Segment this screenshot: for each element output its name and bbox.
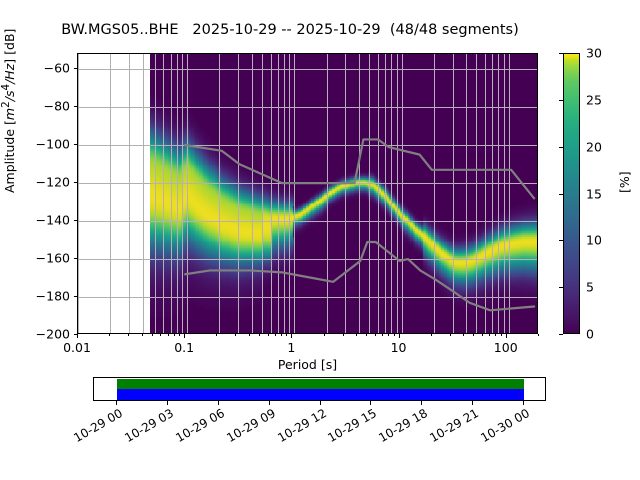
- ppsd-plot-area: [78, 54, 537, 333]
- colorbar-tick-label: 5: [586, 280, 594, 295]
- x-tick-label: 0.01: [63, 340, 91, 355]
- y-tick-label: −140: [27, 213, 70, 228]
- x-axis-label: Period [s]: [77, 357, 538, 372]
- ppsd-axes[interactable]: [77, 53, 538, 334]
- ppsd-figure: BW.MGS05..BHE 2025-10-29 -- 2025-10-29 (…: [0, 0, 640, 480]
- colorbar-tick-label: 15: [586, 186, 602, 201]
- colorbar-tick-label: 0: [586, 327, 594, 342]
- y-tick-label: −60: [27, 61, 70, 76]
- y-tick-label: −180: [27, 289, 70, 304]
- data-coverage-green: [117, 379, 524, 389]
- x-tick-label: 1: [287, 340, 295, 355]
- colorbar-label: [%]: [617, 171, 632, 193]
- x-tick-label: 10: [391, 340, 407, 355]
- colorbar-tick-label: 25: [586, 92, 602, 107]
- colorbar-tick-label: 10: [586, 233, 602, 248]
- colorbar[interactable]: [563, 53, 580, 334]
- data-coverage-timeline[interactable]: [93, 377, 546, 401]
- y-tick-label: −100: [27, 137, 70, 152]
- colorbar-tick-label: 30: [586, 46, 602, 61]
- noise-model-curves: [78, 54, 538, 334]
- y-tick-label: −160: [27, 251, 70, 266]
- page-title: BW.MGS05..BHE 2025-10-29 -- 2025-10-29 (…: [0, 22, 580, 38]
- y-tick-label: −120: [27, 175, 70, 190]
- y-tick-label: −80: [27, 99, 70, 114]
- y-tick-label: −200: [27, 327, 70, 342]
- data-coverage-blue: [117, 389, 524, 400]
- y-axis-label: Amplitude [m2/s4/Hz] [dB]: [0, 29, 17, 193]
- x-tick-label: 100: [494, 340, 518, 355]
- colorbar-tick-label: 20: [586, 139, 602, 154]
- x-tick-label: 0.1: [174, 340, 194, 355]
